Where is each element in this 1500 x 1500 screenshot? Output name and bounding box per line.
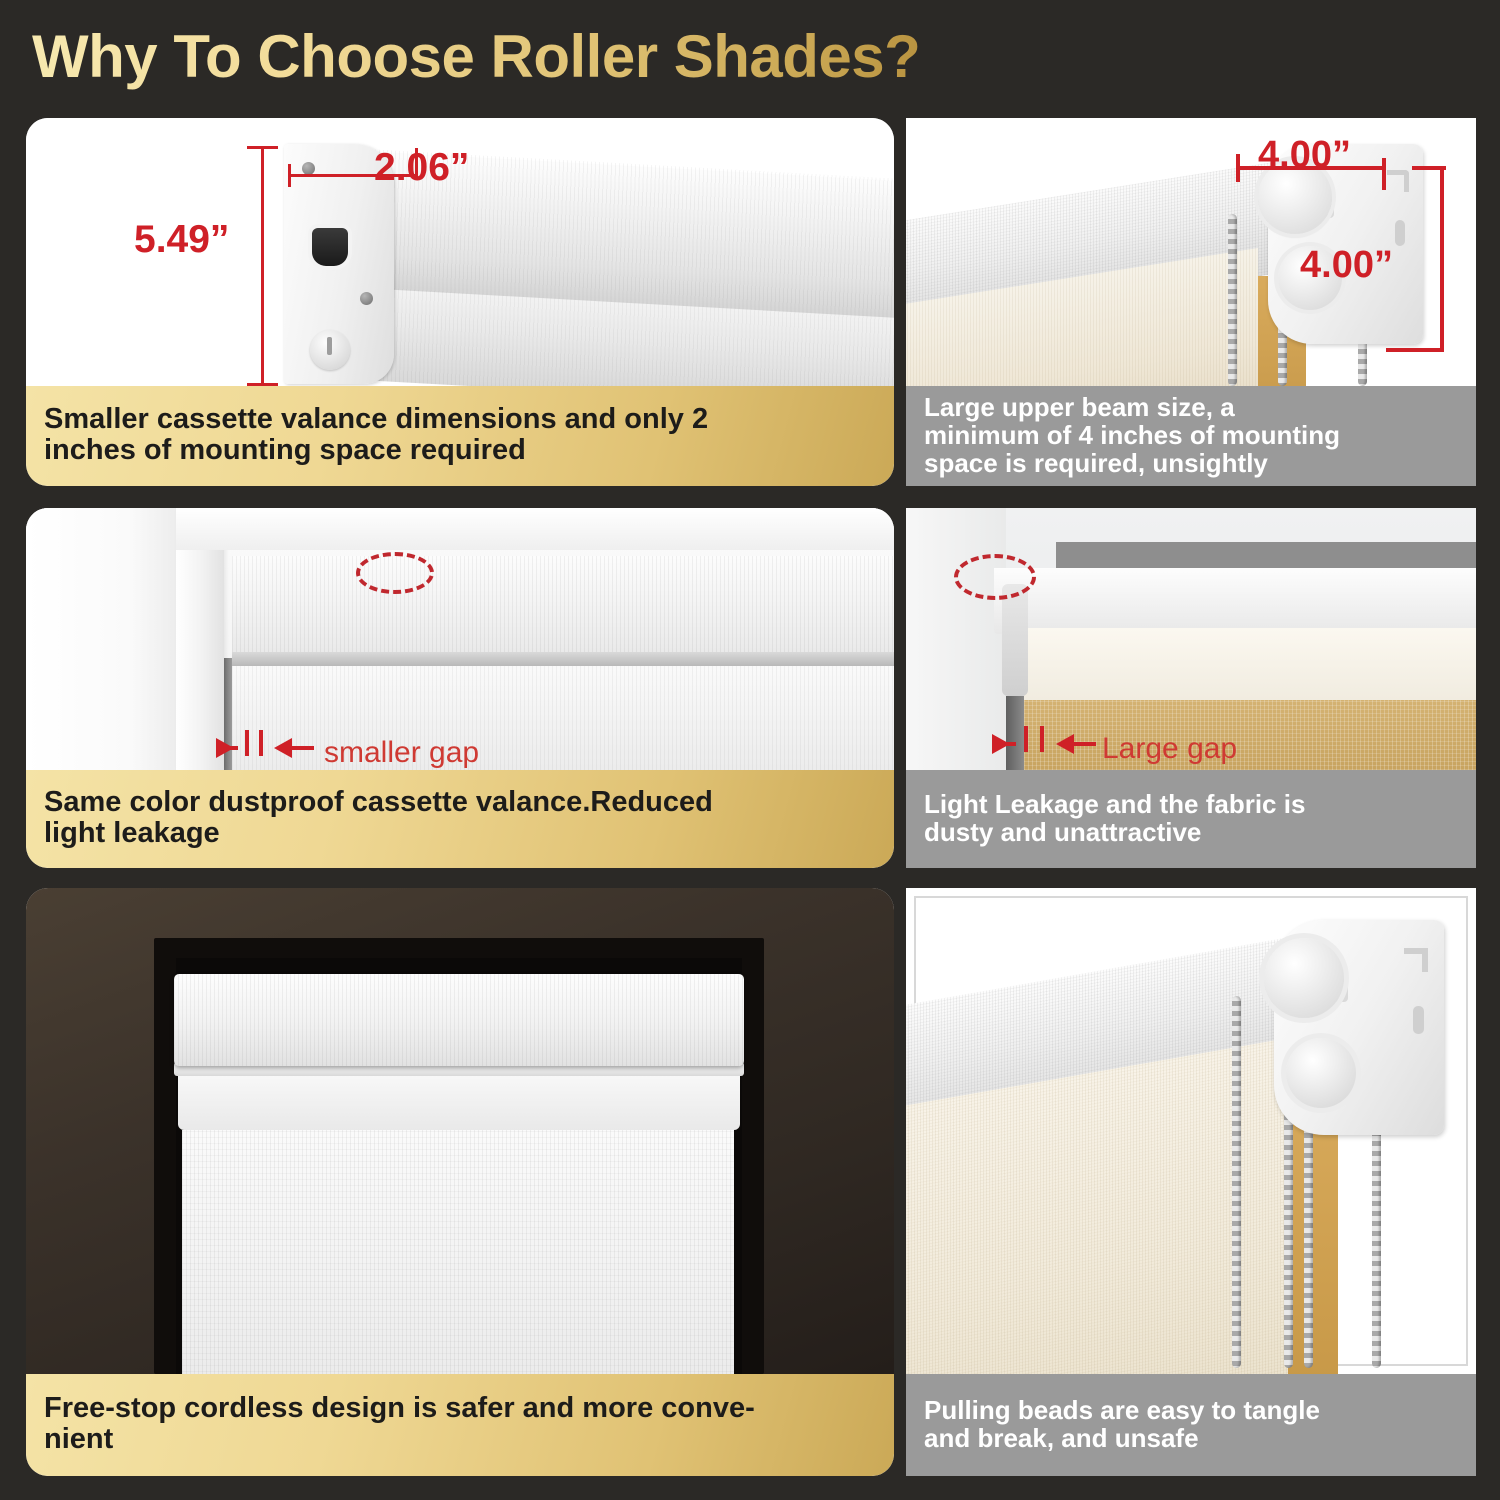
panel-5-caption-line-2: nient — [44, 1424, 755, 1455]
comparison-panel-6: Pulling beads are easy to tangle and bre… — [906, 888, 1476, 1476]
panel-3-image: smaller gap — [26, 508, 894, 770]
wall — [26, 508, 176, 770]
bracket-notch-icon — [1413, 1006, 1424, 1034]
panel-1-caption-line-1: Smaller cassette valance dimensions and … — [44, 404, 708, 435]
dimension-tick-right — [1382, 158, 1386, 190]
arrow-right-icon — [216, 738, 234, 758]
panel-6-image — [906, 888, 1476, 1374]
roller-end-bracket — [1002, 584, 1028, 696]
arrow-right-icon — [992, 734, 1010, 754]
panel-6-caption: Pulling beads are easy to tangle and bre… — [906, 1374, 1476, 1476]
page-title: Why To Choose Roller Shades? — [32, 22, 920, 91]
comparison-panel-5: Free-stop cordless design is safer and m… — [26, 888, 894, 1476]
panel-1-caption: Smaller cassette valance dimensions and … — [26, 386, 894, 486]
valance-slot — [312, 228, 348, 266]
panel-4-caption-line-2: dusty and unattractive — [924, 818, 1305, 846]
panel-6-caption-line-1: Pulling beads are easy to tangle — [924, 1396, 1320, 1424]
side-gap — [1006, 696, 1024, 770]
valance-knob — [310, 330, 350, 370]
window-frame-top — [176, 508, 894, 550]
shade-tan-fabric — [1024, 700, 1476, 770]
panel-4-caption: Light Leakage and the fabric is dusty an… — [906, 770, 1476, 868]
bracket-notch-icon — [1395, 220, 1405, 246]
gap-label: Large gap — [1102, 732, 1237, 766]
arrow-left-icon — [274, 738, 292, 758]
panel-2-image: 4.00” 4.00” — [906, 118, 1476, 386]
panel-2-caption-line-3: space is required, unsightly — [924, 449, 1340, 477]
gap-label: smaller gap — [324, 736, 479, 770]
comparison-panel-3: smaller gap Same color dustproof cassett… — [26, 508, 894, 868]
dimension-tick-left — [1236, 154, 1240, 182]
panel-1-image: 5.49” 2.06” — [26, 118, 894, 386]
highlight-ellipse-icon — [356, 552, 434, 594]
bracket-notch-icon — [1387, 170, 1409, 192]
gap-tick — [1024, 726, 1028, 752]
panel-2-caption-line-1: Large upper beam size, a — [924, 393, 1340, 421]
panel-1-caption-line-2: inches of mounting space required — [44, 435, 708, 466]
panel-2-caption-line-2: minimum of 4 inches of mounting — [924, 421, 1340, 449]
panel-2-caption: Large upper beam size, a minimum of 4 in… — [906, 386, 1476, 486]
dimension-line-vertical — [261, 146, 264, 386]
dimension-line-vertical — [1440, 166, 1444, 352]
gap-tick — [245, 730, 249, 756]
width-dimension-label: 4.00” — [1258, 134, 1351, 177]
gap-tick — [1040, 726, 1044, 752]
panel-4-image: Large gap — [906, 508, 1476, 770]
bead-chain — [1228, 214, 1237, 386]
roller-tube — [994, 568, 1476, 634]
panel-6-caption-line-2: and break, and unsafe — [924, 1424, 1320, 1452]
panel-3-caption: Same color dustproof cassette valance.Re… — [26, 770, 894, 868]
dimension-tick-left — [288, 164, 291, 187]
panel-5-image — [26, 888, 894, 1374]
dimension-tick-bottom — [1386, 348, 1444, 352]
comparison-panel-4: Large gap Light Leakage and the fabric i… — [906, 508, 1476, 868]
roller-pulley — [1264, 938, 1344, 1018]
gap-arrow-line-right — [1074, 742, 1096, 746]
height-dimension-label: 5.49” — [134, 218, 229, 262]
panel-4-caption-line-1: Light Leakage and the fabric is — [924, 790, 1305, 818]
bead-chain — [1372, 1126, 1381, 1368]
panel-3-caption-line-1: Same color dustproof cassette valance.Re… — [44, 787, 713, 818]
roller-pulley — [1286, 1038, 1356, 1108]
wall — [906, 508, 1006, 770]
shade-upper-section — [232, 556, 894, 652]
shade-white-section — [1024, 628, 1476, 700]
dimension-tick-top — [1412, 166, 1446, 170]
shade-fabric — [182, 1130, 734, 1374]
panel-5-caption-line-1: Free-stop cordless design is safer and m… — [44, 1393, 755, 1424]
comparison-panel-1: 5.49” 2.06” Smaller cassette valance dim… — [26, 118, 894, 486]
bead-chain — [1232, 996, 1241, 1368]
comparison-panel-2: 4.00” 4.00” Large upper beam size, a min… — [906, 118, 1476, 486]
arrow-left-icon — [1056, 734, 1074, 754]
height-dimension-label: 4.00” — [1300, 244, 1393, 287]
gap-arrow-line-right — [292, 746, 314, 750]
panel-5-caption: Free-stop cordless design is safer and m… — [26, 1374, 894, 1476]
depth-dimension-label: 2.06” — [374, 146, 469, 190]
dimension-tick-top — [247, 146, 278, 149]
screw-icon — [360, 292, 373, 305]
gap-tick — [259, 730, 263, 756]
panel-3-caption-line-2: light leakage — [44, 818, 713, 849]
cassette-valance-lower — [178, 1074, 740, 1130]
cassette-valance — [174, 974, 744, 1066]
shade-rail — [232, 652, 894, 666]
infographic-page: Why To Choose Roller Shades? 5.49” 2.06” — [0, 0, 1500, 1500]
bracket-notch-icon — [1404, 948, 1428, 972]
highlight-ellipse-icon — [954, 554, 1036, 600]
